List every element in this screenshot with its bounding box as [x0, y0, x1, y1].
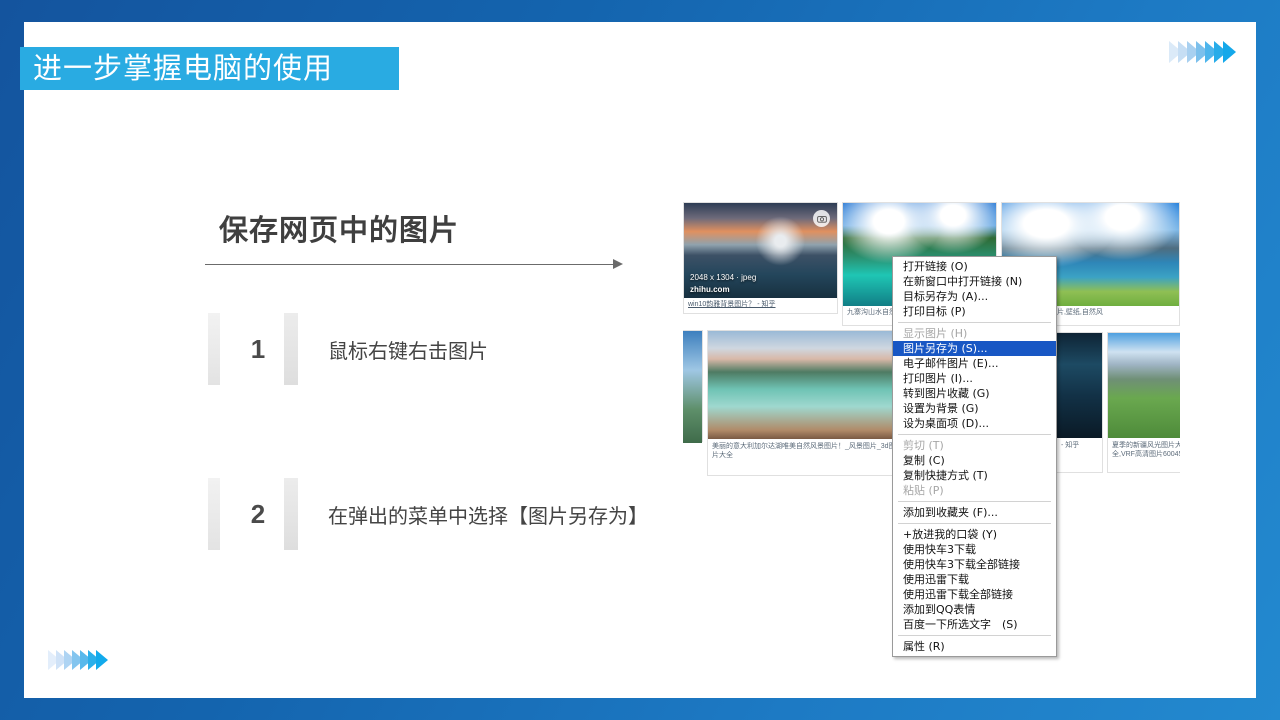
menu-item[interactable]: 转到图片收藏 (G): [893, 386, 1056, 401]
menu-item[interactable]: 复制 (C): [893, 453, 1056, 468]
image-source: zhihu.com: [690, 285, 730, 294]
menu-item[interactable]: 打印目标 (P): [893, 304, 1056, 319]
menu-item[interactable]: 电子邮件图片 (E)...: [893, 356, 1056, 371]
result-caption[interactable]: 夏季的新疆风光图片大全,VRF高清图片60045: [1112, 441, 1180, 459]
image-dimensions: 2048 x 1304 · jpeg: [690, 273, 756, 282]
arrow-right-icon: [613, 259, 623, 269]
menu-item[interactable]: 添加到收藏夹 (F)...: [893, 505, 1056, 520]
menu-item: 粘贴 (P): [893, 483, 1056, 498]
menu-separator: [898, 434, 1051, 435]
menu-item[interactable]: 在新窗口中打开链接 (N): [893, 274, 1056, 289]
heading-divider: [205, 264, 615, 265]
result-thumbnail[interactable]: [1108, 333, 1180, 438]
menu-item[interactable]: 打开链接 (O): [893, 259, 1056, 274]
menu-item[interactable]: 设置为背景 (G): [893, 401, 1056, 416]
menu-item[interactable]: 使用迅雷下载全部链接: [893, 587, 1056, 602]
menu-separator: [898, 322, 1051, 323]
step-number: 1: [238, 313, 278, 385]
menu-item[interactable]: +放进我的口袋 (Y): [893, 527, 1056, 542]
menu-item: 剪切 (T): [893, 438, 1056, 453]
step-number: 2: [238, 478, 278, 550]
result-caption[interactable]: 美丽的意大利加尔达湖唯美自然风景图片！_风景图片_3d图片大全: [712, 442, 896, 460]
result-card[interactable]: 夏季的新疆风光图片大全,VRF高清图片60045: [1107, 332, 1180, 473]
step-accent-bar: [284, 478, 298, 550]
step-accent-bar: [208, 313, 220, 385]
chevron-decoration-top: [1169, 41, 1232, 63]
menu-item[interactable]: 使用快车3下载全部链接: [893, 557, 1056, 572]
step-accent-bar: [284, 313, 298, 385]
result-caption[interactable]: win10韵雅背景图片？ - 知乎: [688, 300, 834, 309]
result-thumbnail[interactable]: [708, 331, 899, 439]
camera-badge-icon[interactable]: [813, 210, 830, 227]
menu-item[interactable]: 使用迅雷下载: [893, 572, 1056, 587]
menu-item[interactable]: 打印图片 (I)...: [893, 371, 1056, 386]
step-text: 鼠标右键右击图片: [328, 313, 488, 385]
menu-item[interactable]: 添加到QQ表情: [893, 602, 1056, 617]
step-text: 在弹出的菜单中选择【图片另存为】: [328, 478, 648, 550]
result-card[interactable]: [683, 330, 703, 442]
menu-separator: [898, 635, 1051, 636]
result-thumbnail[interactable]: [1057, 333, 1102, 438]
result-card[interactable]: 2048 x 1304 · jpeg zhihu.com win10韵雅背景图片…: [683, 202, 838, 314]
result-thumbnail[interactable]: 2048 x 1304 · jpeg zhihu.com: [684, 203, 837, 298]
result-caption[interactable]: - 知乎: [1061, 441, 1099, 450]
menu-item[interactable]: 设为桌面项 (D)...: [893, 416, 1056, 431]
context-menu[interactable]: 打开链接 (O)在新窗口中打开链接 (N)目标另存为 (A)...打印目标 (P…: [892, 256, 1057, 657]
menu-item[interactable]: 百度一下所选文字 (S): [893, 617, 1056, 632]
menu-separator: [898, 501, 1051, 502]
menu-item: 显示图片 (H): [893, 326, 1056, 341]
chevron-decoration-bottom: [48, 650, 104, 670]
slide: 进一步掌握电脑的使用 保存网页中的图片 1 鼠标右键右击图片 2 在弹出的菜单中…: [0, 0, 1280, 720]
result-card[interactable]: - 知乎: [1056, 332, 1103, 473]
section-heading: 保存网页中的图片: [219, 207, 459, 249]
menu-item[interactable]: 复制快捷方式 (T): [893, 468, 1056, 483]
menu-item[interactable]: 使用快车3下载: [893, 542, 1056, 557]
page-title: 进一步掌握电脑的使用: [33, 50, 393, 88]
step-accent-bar: [208, 478, 220, 550]
menu-item[interactable]: 图片另存为 (S)...: [893, 341, 1056, 356]
menu-separator: [898, 523, 1051, 524]
result-thumbnail[interactable]: [683, 331, 702, 443]
chevron-right-icon: [96, 650, 108, 670]
menu-item[interactable]: 属性 (R): [893, 639, 1056, 654]
result-card[interactable]: 美丽的意大利加尔达湖唯美自然风景图片！_风景图片_3d图片大全: [707, 330, 900, 476]
menu-item[interactable]: 目标另存为 (A)...: [893, 289, 1056, 304]
chevron-right-icon: [1223, 41, 1236, 63]
